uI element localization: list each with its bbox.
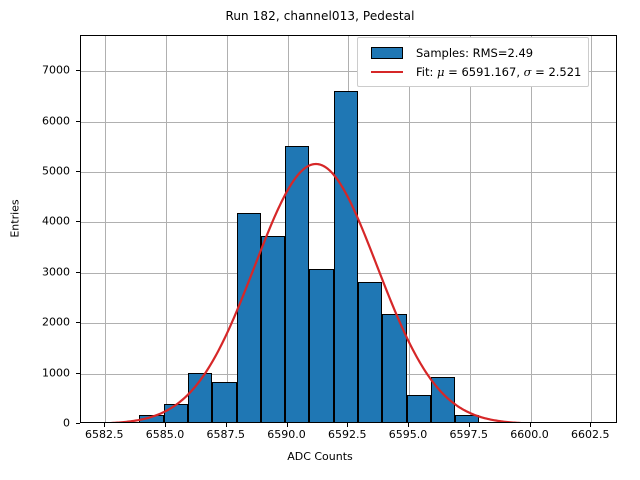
legend-label-fit: Fit: μ = 6591.167, σ = 2.521 — [410, 65, 581, 79]
chart-title: Run 182, channel013, Pedestal — [0, 9, 640, 23]
legend-entry-samples: Samples: RMS=2.49 — [364, 43, 581, 62]
x-axis-label: ADC Counts — [0, 450, 640, 463]
x-tick-label: 6602.5 — [571, 428, 610, 441]
x-tick-label: 6585.0 — [146, 428, 185, 441]
x-tick-label: 6587.5 — [207, 428, 246, 441]
y-tick-mark — [76, 171, 80, 172]
y-tick-label: 1000 — [0, 366, 70, 379]
x-tick-mark — [287, 423, 288, 427]
x-tick-mark — [226, 423, 227, 427]
chart-legend: Samples: RMS=2.49 Fit: μ = 6591.167, σ =… — [357, 37, 589, 87]
legend-fit-mu-value: = 6591.167, — [445, 65, 524, 79]
legend-fit-sigma-value: = 2.521 — [532, 65, 582, 79]
y-axis-label: Entries — [9, 119, 22, 319]
x-tick-label: 6592.5 — [328, 428, 367, 441]
legend-label-samples: Samples: RMS=2.49 — [410, 46, 533, 60]
y-tick-mark — [76, 121, 80, 122]
legend-entry-fit: Fit: μ = 6591.167, σ = 2.521 — [364, 62, 581, 81]
y-tick-mark — [76, 423, 80, 424]
legend-line-icon — [364, 71, 410, 73]
x-tick-mark — [347, 423, 348, 427]
histogram-bar — [480, 422, 504, 423]
y-tick-mark — [76, 70, 80, 71]
x-tick-label: 6590.0 — [267, 428, 306, 441]
x-tick-label: 6582.5 — [85, 428, 124, 441]
plot-area — [80, 35, 617, 423]
y-tick-mark — [76, 221, 80, 222]
gaussian-fit-curve — [81, 36, 617, 423]
y-tick-label: 0 — [0, 417, 70, 430]
x-tick-mark — [530, 423, 531, 427]
legend-patch-icon — [364, 47, 410, 59]
x-tick-label: 6597.5 — [450, 428, 489, 441]
x-tick-mark — [165, 423, 166, 427]
y-tick-mark — [76, 373, 80, 374]
figure-canvas: Run 182, channel013, Pedestal 6582.56585… — [0, 0, 640, 480]
x-tick-mark — [469, 423, 470, 427]
legend-fit-sigma-symbol: σ — [524, 65, 532, 79]
legend-fit-prefix: Fit: — [416, 65, 437, 79]
x-tick-mark — [408, 423, 409, 427]
x-tick-label: 6600.0 — [510, 428, 549, 441]
x-tick-label: 6595.0 — [389, 428, 428, 441]
x-tick-mark — [590, 423, 591, 427]
y-tick-mark — [76, 272, 80, 273]
x-tick-mark — [104, 423, 105, 427]
y-tick-mark — [76, 322, 80, 323]
y-tick-label: 7000 — [0, 64, 70, 77]
legend-fit-mu-symbol: μ — [437, 65, 444, 79]
